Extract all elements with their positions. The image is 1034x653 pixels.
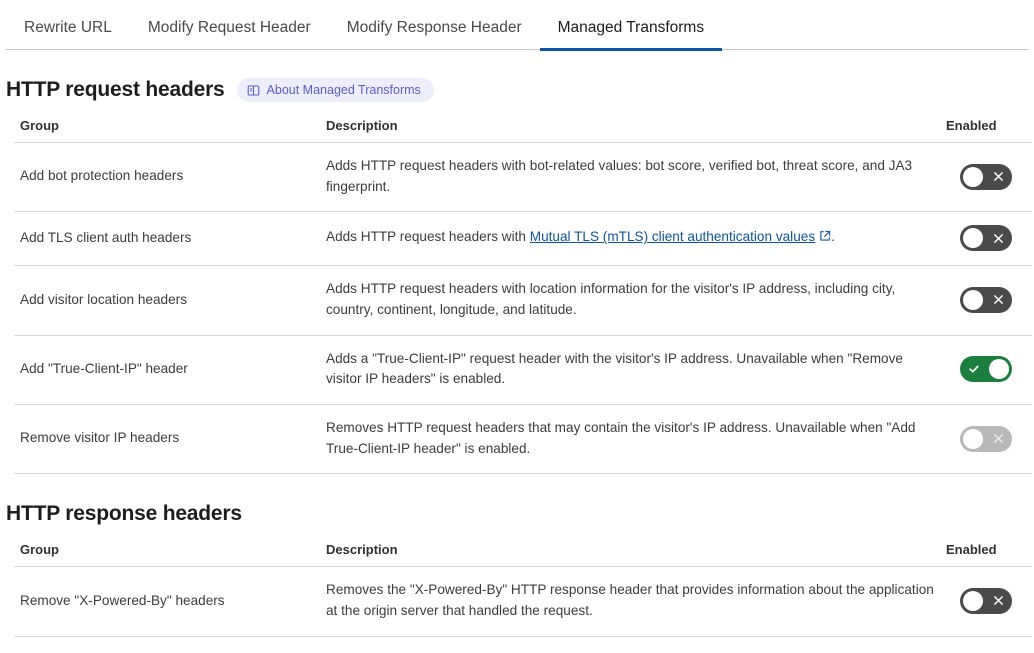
table-row: Remove visitor IP headers Removes HTTP r… <box>14 404 1032 473</box>
check-icon <box>968 356 980 382</box>
close-icon <box>993 287 1004 313</box>
mtls-doc-link[interactable]: Mutual TLS (mTLS) client authentication … <box>530 229 815 244</box>
row-enabled-cell <box>940 567 1032 636</box>
response-headers-table: Group Description Enabled Remove "X-Powe… <box>14 542 1032 653</box>
external-link-icon[interactable] <box>819 228 831 249</box>
table-row: Add visitor location headers Adds HTTP r… <box>14 266 1032 335</box>
enabled-toggle-remove-visitor-ip <box>960 426 1012 452</box>
row-description-suffix: . <box>831 229 835 244</box>
row-description: Adds HTTP request headers with Mutual TL… <box>320 212 940 266</box>
row-description-prefix: Adds HTTP request headers with <box>326 229 530 244</box>
book-icon <box>247 84 260 97</box>
enabled-toggle-remove-x-powered-by[interactable] <box>960 588 1012 614</box>
about-badge-label: About Managed Transforms <box>267 83 421 97</box>
row-enabled-cell <box>940 212 1032 266</box>
tab-modify-request-header[interactable]: Modify Request Header <box>130 20 329 50</box>
close-icon <box>993 426 1004 452</box>
row-description: Removes the "X-Powered-By" HTTP response… <box>320 567 940 636</box>
request-section-header: HTTP request headers About Managed Trans… <box>6 78 1028 102</box>
page-title-request: HTTP request headers <box>6 78 225 102</box>
row-description: Adds HTTP request headers with bot-relat… <box>320 143 940 212</box>
row-group-label: Add TLS client auth headers <box>14 212 320 266</box>
response-section-header: HTTP response headers <box>6 502 1028 526</box>
toggle-knob <box>963 167 983 187</box>
row-description: Adds HTTP request headers with location … <box>320 266 940 335</box>
page-title-response: HTTP response headers <box>6 502 242 526</box>
about-managed-transforms-badge[interactable]: About Managed Transforms <box>237 78 434 102</box>
row-enabled-cell <box>940 636 1032 653</box>
close-icon <box>993 225 1004 251</box>
row-group-label: Remove visitor IP headers <box>14 404 320 473</box>
http-response-headers-section: HTTP response headers Group Description … <box>0 502 1034 653</box>
row-enabled-cell <box>940 404 1032 473</box>
row-description: Adds several security-related HTTP respo… <box>320 636 940 653</box>
enabled-toggle-true-client-ip[interactable] <box>960 356 1012 382</box>
column-header-group: Group <box>14 542 320 567</box>
table-header-row: Group Description Enabled <box>14 118 1032 143</box>
table-header-row: Group Description Enabled <box>14 542 1032 567</box>
toggle-knob <box>963 228 983 248</box>
table-row: Add TLS client auth headers Adds HTTP re… <box>14 212 1032 266</box>
row-description: Adds a "True-Client-IP" request header w… <box>320 335 940 404</box>
close-icon <box>993 164 1004 190</box>
column-header-enabled: Enabled <box>940 118 1032 143</box>
row-group-label: Add bot protection headers <box>14 143 320 212</box>
row-enabled-cell <box>940 335 1032 404</box>
table-row: Add bot protection headers Adds HTTP req… <box>14 143 1032 212</box>
tab-managed-transforms[interactable]: Managed Transforms <box>540 20 722 50</box>
row-enabled-cell <box>940 143 1032 212</box>
column-header-description: Description <box>320 542 940 567</box>
toggle-knob <box>989 359 1009 379</box>
toggle-knob <box>963 591 983 611</box>
column-header-group: Group <box>14 118 320 143</box>
row-group-label: Remove "X-Powered-By" headers <box>14 567 320 636</box>
tab-bar: Rewrite URL Modify Request Header Modify… <box>6 0 1028 50</box>
close-icon <box>993 588 1004 614</box>
http-request-headers-section: HTTP request headers About Managed Trans… <box>0 78 1034 474</box>
row-description: Removes HTTP request headers that may co… <box>320 404 940 473</box>
column-header-enabled: Enabled <box>940 542 1032 567</box>
column-header-description: Description <box>320 118 940 143</box>
row-enabled-cell <box>940 266 1032 335</box>
table-row: Remove "X-Powered-By" headers Removes th… <box>14 567 1032 636</box>
toggle-knob <box>963 290 983 310</box>
table-row: Add security headers Adds several securi… <box>14 636 1032 653</box>
tab-rewrite-url[interactable]: Rewrite URL <box>6 20 130 50</box>
row-group-label: Add "True-Client-IP" header <box>14 335 320 404</box>
enabled-toggle-visitor-location[interactable] <box>960 287 1012 313</box>
tab-modify-response-header[interactable]: Modify Response Header <box>329 20 540 50</box>
row-group-label: Add security headers <box>14 636 320 653</box>
enabled-toggle-bot-protection[interactable] <box>960 164 1012 190</box>
enabled-toggle-tls-client-auth[interactable] <box>960 225 1012 251</box>
row-group-label: Add visitor location headers <box>14 266 320 335</box>
toggle-knob <box>963 429 983 449</box>
request-headers-table: Group Description Enabled Add bot protec… <box>14 118 1032 474</box>
table-row: Add "True-Client-IP" header Adds a "True… <box>14 335 1032 404</box>
